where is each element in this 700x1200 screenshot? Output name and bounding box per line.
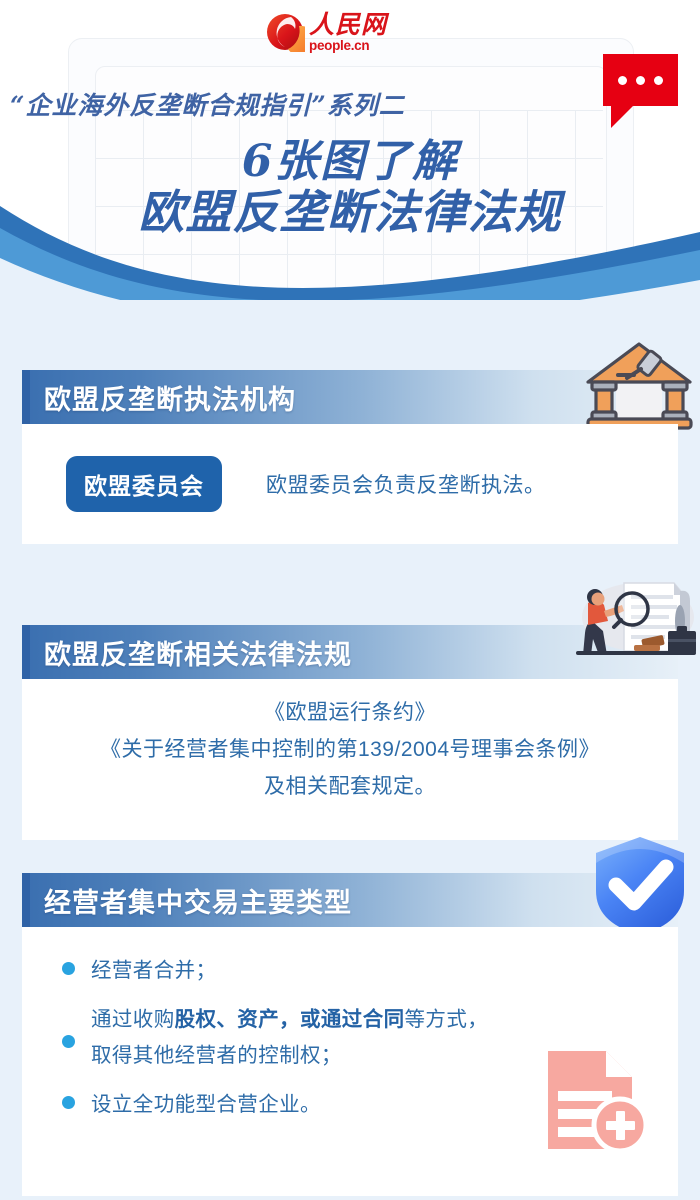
courthouse-gavel-icon [582, 338, 697, 430]
section-title: 经营者集中交易主要类型 [44, 881, 352, 920]
speech-bubble-icon [603, 54, 678, 106]
bullet-label: 设立全功能型合营企业。 [91, 1087, 321, 1122]
section-header: 经营者集中交易主要类型 [22, 873, 678, 927]
section-title: 欧盟反垄断执法机构 [44, 378, 296, 417]
law-line: 《欧盟运行条约》 [22, 695, 678, 732]
law-line: 《关于经营者集中控制的第139/2004号理事会条例》 [22, 732, 678, 769]
section-header: 欧盟反垄断执法机构 [22, 370, 678, 424]
bullet-label: 经营者合并； [91, 953, 216, 988]
document-magnifier-icon [568, 577, 700, 659]
section-title: 欧盟反垄断相关法律法规 [44, 633, 352, 672]
list-item: 经营者合并； [52, 953, 678, 988]
section-header: 欧盟反垄断相关法律法规 [22, 625, 678, 679]
bullet-dot-icon [62, 1096, 75, 1109]
logo-text-cn: 人民网 [309, 12, 387, 37]
bullet-dot-icon [62, 962, 75, 975]
bullet-text-part-c: 等方式， [405, 1008, 489, 1031]
bubble-dots [603, 54, 678, 106]
infographic-page: 人民网 people.cn “企业海外反垄断合规指引”系列二 6张图了解 欧盟反… [0, 0, 700, 1200]
section-transaction-types: 经营者集中交易主要类型 [22, 873, 678, 1196]
section-body-text: 欧盟委员会负责反垄断执法。 [266, 469, 546, 499]
people-cn-swirl-icon [265, 12, 305, 52]
section-laws-regulations: 欧盟反垄断相关法律法规 [22, 625, 678, 840]
bullet-text-part-a: 通过收购 [91, 1008, 175, 1031]
speech-bubble-tail [611, 106, 633, 128]
header-wave-decoration [0, 196, 700, 300]
bullet-label: 通过收购股权、资产，或通过合同等方式，取得其他经营者的控制权； [91, 1002, 488, 1073]
section-body: 欧盟委员会 欧盟委员会负责反垄断执法。 [22, 424, 678, 544]
law-line: 及相关配套规定。 [22, 769, 678, 806]
logo-text-en: people.cn [309, 39, 387, 53]
section-enforcement-agency: 欧盟反垄断执法机构 [22, 370, 678, 544]
shield-check-icon [590, 833, 690, 939]
section-body: 《欧盟运行条约》 《关于经营者集中控制的第139/2004号理事会条例》 及相关… [22, 679, 678, 840]
eu-commission-badge: 欧盟委员会 [66, 456, 222, 512]
bullet-text-line2: 取得其他经营者的控制权； [91, 1044, 342, 1067]
series-subtitle: “企业海外反垄断合规指引”系列二 [10, 86, 405, 122]
document-plus-icon [540, 1047, 650, 1153]
section-accent-bar [22, 625, 30, 679]
section-accent-bar [22, 873, 30, 927]
section-body: 经营者合并； 通过收购股权、资产，或通过合同等方式，取得其他经营者的控制权； 设… [22, 927, 678, 1196]
section-accent-bar [22, 370, 30, 424]
header-banner: 人民网 people.cn “企业海外反垄断合规指引”系列二 6张图了解 欧盟反… [0, 0, 700, 300]
people-cn-logo: 人民网 people.cn [265, 12, 387, 53]
title-line-1: 6张图了解 [0, 140, 700, 184]
bullet-dot-icon [62, 1035, 75, 1048]
bullet-text-emphasis: 股权、资产，或通过合同 [175, 1008, 405, 1031]
